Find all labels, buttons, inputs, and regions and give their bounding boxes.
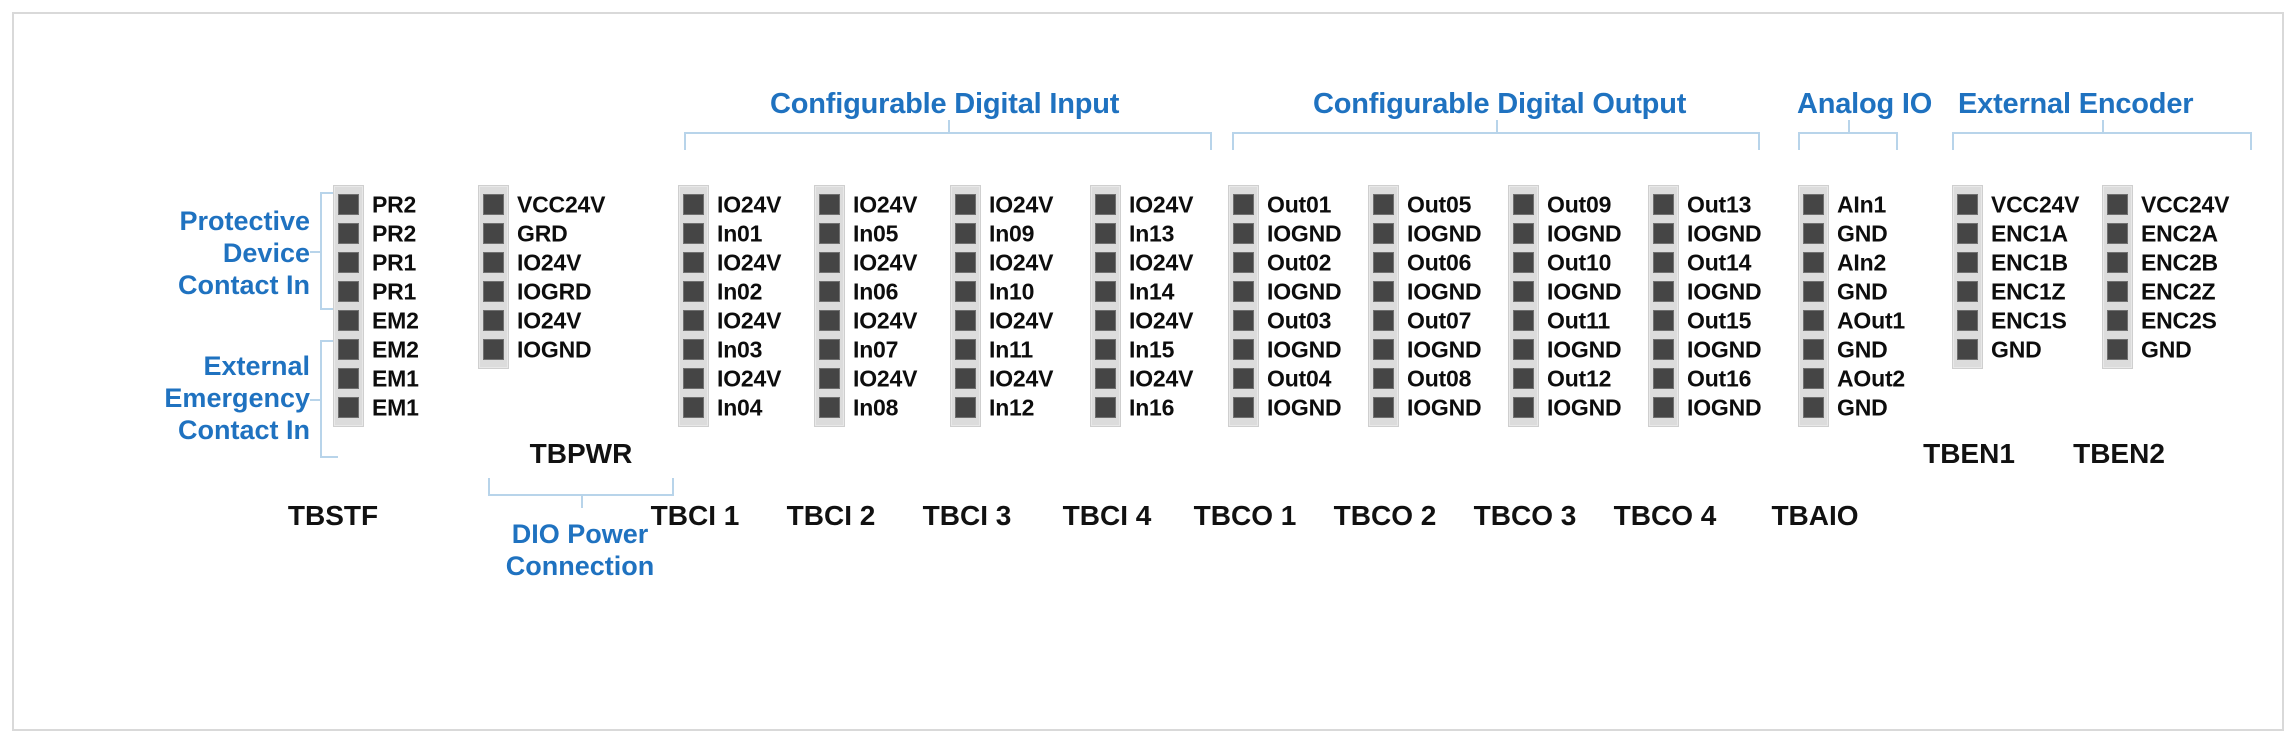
pin-row[interactable]: GND (1803, 393, 1824, 422)
pin-contact-icon (1233, 397, 1254, 418)
pin-row[interactable]: In05 (819, 219, 840, 248)
pin-row[interactable]: IO24V (683, 364, 704, 393)
pin-row[interactable]: EM2 (338, 306, 359, 335)
pin-row[interactable]: IO24V (683, 306, 704, 335)
pin-label: Out09 (1547, 191, 1611, 218)
pin-contact-icon (1803, 310, 1824, 331)
pin-row[interactable]: VCC24V (1957, 190, 1978, 219)
pin-label: In09 (989, 220, 1034, 247)
pin-row[interactable]: IOGND (1233, 393, 1254, 422)
pin-label: VCC24V (2141, 191, 2229, 218)
pin-contact-icon (683, 368, 704, 389)
pin-contact-icon (1373, 310, 1394, 331)
pin-contact-icon (1373, 339, 1394, 360)
group-header-digital-input: Configurable Digital Input (770, 88, 1119, 121)
pin-row[interactable]: IO24V (483, 248, 504, 277)
group-header-external-encoder: External Encoder (1958, 88, 2193, 121)
pin-contact-icon (819, 368, 840, 389)
pin-row[interactable]: Out16 (1653, 364, 1674, 393)
pin-row[interactable]: In06 (819, 277, 840, 306)
label-protective-line3: Contact In (80, 269, 310, 301)
pin-row[interactable]: AOut2 (1803, 364, 1824, 393)
pin-row[interactable]: In02 (683, 277, 704, 306)
pin-contact-icon (1513, 194, 1534, 215)
pin-row[interactable]: Out03 (1233, 306, 1254, 335)
pin-row[interactable]: IO24V (683, 248, 704, 277)
terminal-block-tbci-1[interactable]: IO24VIn01IO24VIn02IO24VIn03IO24VIn04 (678, 185, 709, 427)
pin-row[interactable]: Out01 (1233, 190, 1254, 219)
pin-row[interactable]: Out08 (1373, 364, 1394, 393)
pin-label: IO24V (717, 365, 781, 392)
pin-label: IOGND (1687, 278, 1761, 305)
pin-label: ENC1Z (1991, 278, 2065, 305)
pin-contact-icon (1373, 194, 1394, 215)
pin-label: In15 (1129, 336, 1174, 363)
pin-label: AOut1 (1837, 307, 1905, 334)
pin-row[interactable]: GND (1803, 277, 1824, 306)
pin-label: Out08 (1407, 365, 1471, 392)
pin-contact-icon (1513, 368, 1534, 389)
pin-contact-icon (2107, 194, 2128, 215)
pin-row[interactable]: In12 (955, 393, 976, 422)
diagram-canvas: Configurable Digital Input Configurable … (0, 0, 2296, 743)
pin-row[interactable]: AOut1 (1803, 306, 1824, 335)
pin-contact-icon (683, 397, 704, 418)
pin-contact-icon (1957, 281, 1978, 302)
pin-contact-icon (1233, 339, 1254, 360)
block-name-tbpwr: TBPWR (481, 438, 681, 470)
pin-contact-icon (955, 397, 976, 418)
pin-label: GND (1837, 336, 1888, 363)
pin-contact-icon (2107, 310, 2128, 331)
pin-row[interactable]: In11 (955, 335, 976, 364)
bracket-external-encoder (1952, 132, 2252, 150)
label-protective-device-contact-in: Protective Device Contact In (80, 205, 310, 301)
pin-row[interactable]: Out04 (1233, 364, 1254, 393)
pin-label: EM2 (372, 307, 419, 334)
pin-row[interactable]: IOGND (1233, 219, 1254, 248)
pin-label: IO24V (717, 307, 781, 334)
pin-label: Out01 (1267, 191, 1331, 218)
label-protective-line1: Protective (80, 205, 310, 237)
pin-label: IOGND (1687, 220, 1761, 247)
pin-label: IO24V (1129, 249, 1193, 276)
pin-label: ENC1B (1991, 249, 2068, 276)
pin-row[interactable]: IO24V (1095, 248, 1116, 277)
pin-contact-icon (338, 339, 359, 360)
terminal-block-tben2[interactable]: VCC24VENC2AENC2BENC2ZENC2SGND (2102, 185, 2133, 369)
terminal-block-tbco-3[interactable]: Out09IOGNDOut10IOGNDOut11IOGNDOut12IOGND (1508, 185, 1539, 427)
pin-contact-icon (819, 194, 840, 215)
label-protective-line2: Device (80, 237, 310, 269)
terminal-block-tbci-3[interactable]: IO24VIn09IO24VIn10IO24VIn11IO24VIn12 (950, 185, 981, 427)
pin-contact-icon (483, 339, 504, 360)
pin-label: In10 (989, 278, 1034, 305)
pin-label: VCC24V (1991, 191, 2079, 218)
pin-label: ENC2Z (2141, 278, 2215, 305)
pin-label: GND (1837, 220, 1888, 247)
pin-contact-icon (483, 194, 504, 215)
pin-contact-icon (819, 397, 840, 418)
pin-contact-icon (1803, 252, 1824, 273)
pin-contact-icon (1233, 281, 1254, 302)
pin-label: IO24V (717, 191, 781, 218)
pin-label: IOGND (517, 336, 591, 363)
pin-label: IO24V (989, 191, 1053, 218)
pin-contact-icon (1233, 252, 1254, 273)
pin-row[interactable]: ENC1Z (1957, 277, 1978, 306)
pin-contact-icon (683, 223, 704, 244)
pin-row[interactable]: ENC2B (2107, 248, 2128, 277)
pin-contact-icon (819, 339, 840, 360)
pin-contact-icon (2107, 223, 2128, 244)
pin-contact-icon (1373, 281, 1394, 302)
pin-label: Out02 (1267, 249, 1331, 276)
pin-row[interactable]: Out10 (1513, 248, 1534, 277)
pin-contact-icon (1653, 281, 1674, 302)
pin-label: In04 (717, 394, 762, 421)
pin-row[interactable]: IO24V (955, 248, 976, 277)
pin-label: IOGND (1267, 394, 1341, 421)
pin-row[interactable]: Out15 (1653, 306, 1674, 335)
pin-contact-icon (338, 310, 359, 331)
pin-row[interactable]: IO24V (819, 364, 840, 393)
pin-contact-icon (338, 194, 359, 215)
pin-row[interactable]: ENC2A (2107, 219, 2128, 248)
pin-row[interactable]: Out09 (1513, 190, 1534, 219)
pin-contact-icon (1653, 223, 1674, 244)
pin-row[interactable]: IO24V (955, 190, 976, 219)
pin-row[interactable]: PR1 (338, 248, 359, 277)
pin-label: IO24V (1129, 307, 1193, 334)
pin-contact-icon (819, 223, 840, 244)
pin-contact-icon (955, 281, 976, 302)
pin-row[interactable]: ENC1S (1957, 306, 1978, 335)
pin-contact-icon (1095, 310, 1116, 331)
pin-row[interactable]: Out12 (1513, 364, 1534, 393)
pin-row[interactable]: GND (2107, 335, 2128, 364)
pin-row[interactable]: IO24V (819, 248, 840, 277)
pin-row[interactable]: ENC1B (1957, 248, 1978, 277)
pin-contact-icon (1513, 281, 1534, 302)
terminal-block-tbco-1[interactable]: Out01IOGNDOut02IOGNDOut03IOGNDOut04IOGND (1228, 185, 1259, 427)
pin-contact-icon (1653, 310, 1674, 331)
pin-contact-icon (955, 310, 976, 331)
pin-row[interactable]: IOGND (1513, 277, 1534, 306)
pin-row[interactable]: In14 (1095, 277, 1116, 306)
pin-label: ENC2A (2141, 220, 2218, 247)
pin-label: VCC24V (517, 191, 605, 218)
pin-row[interactable]: Out06 (1373, 248, 1394, 277)
pin-row[interactable]: Out07 (1373, 306, 1394, 335)
pin-row[interactable]: AIn2 (1803, 248, 1824, 277)
pin-contact-icon (483, 310, 504, 331)
pin-label: Out03 (1267, 307, 1331, 334)
terminal-block-tbco-2[interactable]: Out05IOGNDOut06IOGNDOut07IOGNDOut08IOGND (1368, 185, 1399, 427)
pin-label: PR2 (372, 191, 416, 218)
pin-label: IO24V (517, 307, 581, 334)
pin-contact-icon (483, 281, 504, 302)
pin-label: IO24V (853, 365, 917, 392)
pin-contact-icon (819, 252, 840, 273)
terminal-block-tbci-2[interactable]: IO24VIn05IO24VIn06IO24VIn07IO24VIn08 (814, 185, 845, 427)
pin-label: ENC2S (2141, 307, 2217, 334)
pin-row[interactable]: In10 (955, 277, 976, 306)
pin-label: IOGND (1407, 394, 1481, 421)
pin-row[interactable]: IOGND (1653, 277, 1674, 306)
pin-label: In02 (717, 278, 762, 305)
pin-contact-icon (338, 223, 359, 244)
pin-contact-icon (1373, 252, 1394, 273)
label-emergency-line1: External (80, 350, 310, 382)
bracket-digital-input (684, 132, 1212, 150)
pin-label: IO24V (717, 249, 781, 276)
pin-row[interactable]: In03 (683, 335, 704, 364)
pin-label: IOGND (1687, 336, 1761, 363)
pin-contact-icon (1803, 281, 1824, 302)
pin-contact-icon (338, 397, 359, 418)
pin-label: ENC1A (1991, 220, 2068, 247)
pin-label: IO24V (853, 249, 917, 276)
pin-label: IO24V (989, 307, 1053, 334)
pin-label: GND (1837, 394, 1888, 421)
pin-row[interactable]: IOGND (1373, 393, 1394, 422)
pin-label: PR1 (372, 249, 416, 276)
pin-row[interactable]: IOGND (1373, 219, 1394, 248)
pin-row[interactable]: IO24V (1095, 306, 1116, 335)
pin-contact-icon (2107, 281, 2128, 302)
group-header-analog-io: Analog IO (1797, 88, 1932, 121)
pin-row[interactable]: IOGND (1233, 277, 1254, 306)
pin-contact-icon (1373, 368, 1394, 389)
pin-row[interactable]: IOGND (1233, 335, 1254, 364)
pin-contact-icon (338, 368, 359, 389)
terminal-block-tbstf[interactable]: PR2PR2PR1PR1EM2EM2EM1EM1 (333, 185, 364, 427)
pin-label: Out07 (1407, 307, 1471, 334)
pin-row[interactable]: In15 (1095, 335, 1116, 364)
pin-row[interactable]: IOGND (1653, 335, 1674, 364)
terminal-block-tbco-4[interactable]: Out13IOGNDOut14IOGNDOut15IOGNDOut16IOGND (1648, 185, 1679, 427)
pin-label: Out11 (1547, 307, 1610, 334)
pin-row[interactable]: IOGND (1513, 393, 1534, 422)
pin-label: IOGND (1407, 336, 1481, 363)
pin-label: Out12 (1547, 365, 1611, 392)
pin-row[interactable]: Out02 (1233, 248, 1254, 277)
pin-row[interactable]: PR1 (338, 277, 359, 306)
pin-contact-icon (338, 281, 359, 302)
pin-contact-icon (1373, 223, 1394, 244)
pin-contact-icon (1653, 252, 1674, 273)
pin-contact-icon (1653, 194, 1674, 215)
pin-contact-icon (338, 252, 359, 273)
pin-row[interactable]: AIn1 (1803, 190, 1824, 219)
pin-row[interactable]: IOGRD (483, 277, 504, 306)
pin-contact-icon (2107, 339, 2128, 360)
pin-label: GRD (517, 220, 568, 247)
pin-contact-icon (683, 310, 704, 331)
pin-contact-icon (955, 368, 976, 389)
pin-contact-icon (683, 194, 704, 215)
pin-contact-icon (1373, 397, 1394, 418)
pin-contact-icon (819, 310, 840, 331)
pin-label: In11 (989, 336, 1033, 363)
pin-label: IOGND (1547, 336, 1621, 363)
pin-contact-icon (955, 339, 976, 360)
pin-contact-icon (1803, 339, 1824, 360)
pin-row[interactable]: IO24V (955, 306, 976, 335)
pin-row[interactable]: IO24V (483, 306, 504, 335)
pin-row[interactable]: In13 (1095, 219, 1116, 248)
pin-row[interactable]: GND (1957, 335, 1978, 364)
pin-contact-icon (1653, 339, 1674, 360)
pin-row[interactable]: IOGND (1653, 393, 1674, 422)
pin-row[interactable]: GND (1803, 335, 1824, 364)
pin-contact-icon (1653, 368, 1674, 389)
pin-row[interactable]: IO24V (683, 190, 704, 219)
pin-row[interactable]: GRD (483, 219, 504, 248)
pin-contact-icon (1095, 339, 1116, 360)
pin-label: Out14 (1687, 249, 1751, 276)
pin-row[interactable]: Out14 (1653, 248, 1674, 277)
pin-label: Out06 (1407, 249, 1471, 276)
pin-label: Out13 (1687, 191, 1751, 218)
pin-contact-icon (1957, 223, 1978, 244)
pin-contact-icon (1803, 194, 1824, 215)
pin-label: In13 (1129, 220, 1174, 247)
pin-row[interactable]: In07 (819, 335, 840, 364)
pin-contact-icon (1233, 310, 1254, 331)
pin-label: Out10 (1547, 249, 1611, 276)
pin-row[interactable]: In01 (683, 219, 704, 248)
pin-row[interactable]: IOGND (1373, 277, 1394, 306)
pin-label: In16 (1129, 394, 1174, 421)
pin-row[interactable]: IOGND (1373, 335, 1394, 364)
label-dio-power-line2: Connection (460, 550, 700, 582)
pin-label: IOGND (1267, 278, 1341, 305)
pin-row[interactable]: IOGND (1653, 219, 1674, 248)
pin-contact-icon (483, 223, 504, 244)
pin-label: ENC2B (2141, 249, 2218, 276)
pin-row[interactable]: ENC1A (1957, 219, 1978, 248)
pin-row[interactable]: In16 (1095, 393, 1116, 422)
pin-row[interactable]: VCC24V (2107, 190, 2128, 219)
pin-contact-icon (1513, 397, 1534, 418)
pin-row[interactable]: VCC24V (483, 190, 504, 219)
pin-label: Out04 (1267, 365, 1331, 392)
terminal-block-tben1[interactable]: VCC24VENC1AENC1BENC1ZENC1SGND (1952, 185, 1983, 369)
pin-contact-icon (1957, 339, 1978, 360)
pin-contact-icon (1803, 368, 1824, 389)
pin-contact-icon (955, 223, 976, 244)
pin-row[interactable]: EM2 (338, 335, 359, 364)
bracket-dio-power (488, 478, 674, 496)
pin-contact-icon (1233, 368, 1254, 389)
pin-label: IO24V (989, 249, 1053, 276)
pin-label: IOGND (1547, 278, 1621, 305)
pin-row[interactable]: IOGND (483, 335, 504, 364)
pin-contact-icon (683, 281, 704, 302)
pin-label: IOGRD (517, 278, 591, 305)
pin-row[interactable]: PR2 (338, 190, 359, 219)
pin-label: PR2 (372, 220, 416, 247)
label-external-emergency-contact-in: External Emergency Contact In (80, 350, 310, 446)
terminal-block-tbci-4[interactable]: IO24VIn13IO24VIn14IO24VIn15IO24VIn16 (1090, 185, 1121, 427)
pin-row[interactable]: ENC2Z (2107, 277, 2128, 306)
pin-row[interactable]: IO24V (819, 190, 840, 219)
pin-label: IO24V (853, 191, 917, 218)
pin-label: GND (2141, 336, 2192, 363)
pin-contact-icon (1803, 223, 1824, 244)
pin-row[interactable]: IOGND (1513, 219, 1534, 248)
pin-row[interactable]: Out11 (1513, 306, 1534, 335)
pin-contact-icon (1095, 397, 1116, 418)
block-name-tbstf: TBSTF (233, 500, 433, 532)
pin-label: Out16 (1687, 365, 1751, 392)
pin-contact-icon (1233, 194, 1254, 215)
pin-label: AIn1 (1837, 191, 1886, 218)
pin-label: In05 (853, 220, 898, 247)
pin-label: IOGND (1547, 394, 1621, 421)
pin-label: GND (1991, 336, 2042, 363)
pin-row[interactable]: EM1 (338, 393, 359, 422)
pin-row[interactable]: In04 (683, 393, 704, 422)
pin-contact-icon (1513, 339, 1534, 360)
bracket-analog-io (1798, 132, 1898, 150)
pin-row[interactable]: Out13 (1653, 190, 1674, 219)
pin-row[interactable]: PR2 (338, 219, 359, 248)
pin-contact-icon (1095, 252, 1116, 273)
label-emergency-line3: Contact In (80, 414, 310, 446)
pin-contact-icon (1957, 194, 1978, 215)
pin-contact-icon (683, 252, 704, 273)
pin-contact-icon (955, 252, 976, 273)
pin-contact-icon (1233, 223, 1254, 244)
pin-label: In07 (853, 336, 898, 363)
pin-contact-icon (683, 339, 704, 360)
pin-label: In08 (853, 394, 898, 421)
pin-label: IO24V (989, 365, 1053, 392)
block-name-tben2: TBEN2 (2019, 438, 2219, 470)
pin-row[interactable]: Out05 (1373, 190, 1394, 219)
pin-row[interactable]: IO24V (1095, 190, 1116, 219)
label-emergency-line2: Emergency (80, 382, 310, 414)
pin-row[interactable]: ENC2S (2107, 306, 2128, 335)
pin-label: EM1 (372, 394, 419, 421)
pin-row[interactable]: IOGND (1513, 335, 1534, 364)
pin-row[interactable]: IO24V (1095, 364, 1116, 393)
pin-label: ENC1S (1991, 307, 2067, 334)
pin-row[interactable]: In08 (819, 393, 840, 422)
pin-label: AOut2 (1837, 365, 1905, 392)
pin-label: In12 (989, 394, 1034, 421)
pin-row[interactable]: IO24V (819, 306, 840, 335)
terminal-block-tbaio[interactable]: AIn1GNDAIn2GNDAOut1GNDAOut2GND (1798, 185, 1829, 427)
pin-label: AIn2 (1837, 249, 1886, 276)
pin-row[interactable]: In09 (955, 219, 976, 248)
pin-row[interactable]: IO24V (955, 364, 976, 393)
pin-label: IOGND (1407, 278, 1481, 305)
pin-row[interactable]: EM1 (338, 364, 359, 393)
pin-label: In14 (1129, 278, 1174, 305)
pin-contact-icon (1513, 310, 1534, 331)
pin-contact-icon (1095, 223, 1116, 244)
pin-label: Out15 (1687, 307, 1751, 334)
pin-label: EM1 (372, 365, 419, 392)
pin-row[interactable]: GND (1803, 219, 1824, 248)
pin-contact-icon (955, 194, 976, 215)
pin-label: IOGND (1267, 220, 1341, 247)
terminal-block-tbpwr[interactable]: VCC24VGRDIO24VIOGRDIO24VIOGND (478, 185, 509, 369)
